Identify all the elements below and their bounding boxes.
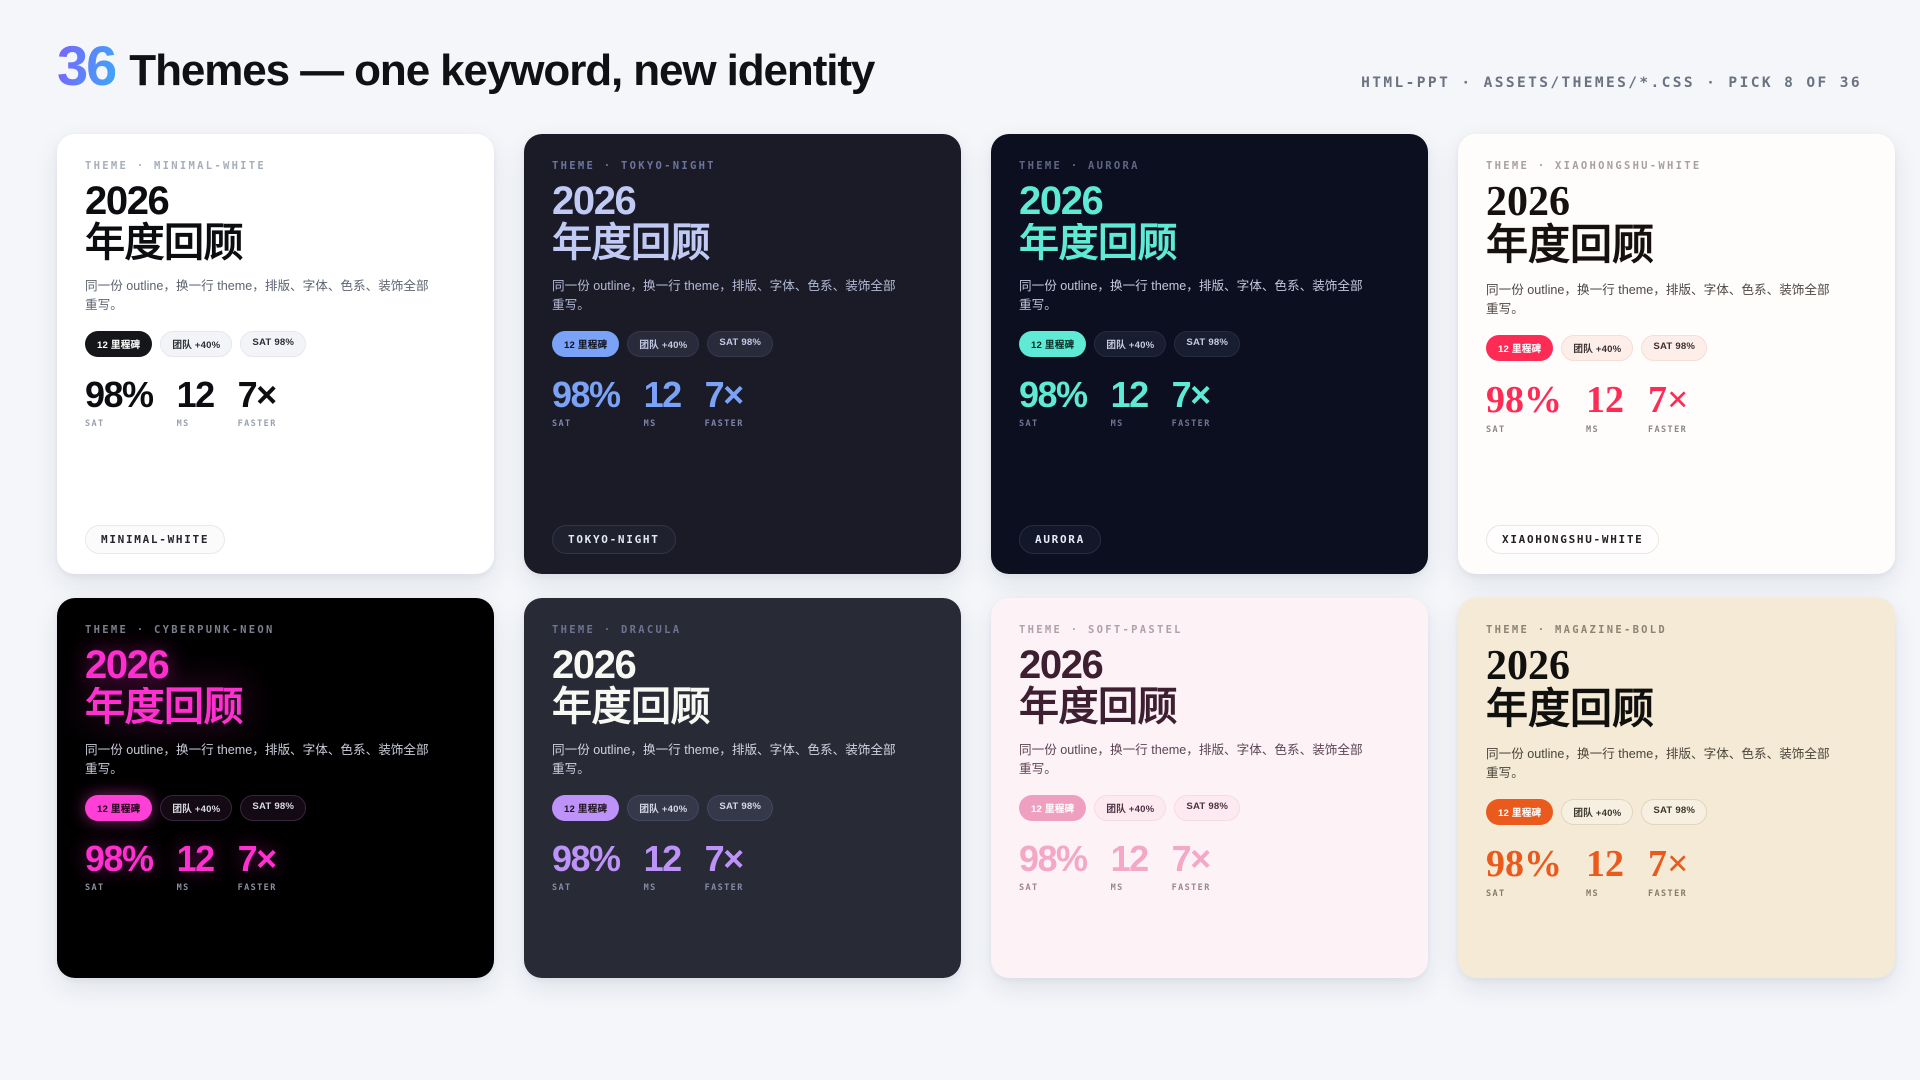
headline-cn: 年度回顾 — [85, 687, 466, 727]
card-headline: 2026 年度回顾 — [1486, 645, 1867, 731]
stat-ms: 12 MS — [177, 377, 214, 429]
card-lede: 同一份 outline，换一行 theme，排版、字体、色系、装饰全部重写。 — [552, 741, 902, 779]
stat-ms: 12 MS — [1111, 377, 1148, 429]
card-chips: 12 里程碑 团队 +40% SAT 98% — [552, 331, 933, 357]
stat-sat: 98% SAT — [85, 377, 153, 429]
chip-milestones[interactable]: 12 里程碑 — [1019, 795, 1086, 821]
card-eyebrow: THEME · SOFT-PASTEL — [1019, 624, 1400, 636]
stat-label: MS — [1111, 883, 1148, 893]
stat-ms: 12 MS — [1586, 381, 1624, 435]
card-headline: 2026 年度回顾 — [1019, 645, 1400, 727]
card-footer: XIAOHONGSHU-WHITE — [1486, 525, 1659, 554]
stat-label: SAT — [1486, 889, 1562, 899]
stat-label: MS — [177, 883, 214, 893]
stat-faster: 7× FASTER — [705, 841, 744, 893]
card-lede: 同一份 outline，换一行 theme，排版、字体、色系、装饰全部重写。 — [1019, 277, 1369, 315]
theme-slug-pill[interactable]: MINIMAL-WHITE — [85, 525, 225, 554]
stat-faster: 7× FASTER — [1648, 845, 1689, 899]
stat-label: FASTER — [1648, 425, 1689, 435]
chip-team[interactable]: 团队 +40% — [627, 795, 699, 821]
card-eyebrow: THEME · TOKYO-NIGHT — [552, 160, 933, 172]
headline-year: 2026 — [552, 181, 933, 221]
stat-sat: 98% SAT — [552, 377, 620, 429]
stat-value: 12 — [177, 377, 214, 413]
headline-cn: 年度回顾 — [1486, 689, 1867, 731]
stat-sat: 98% SAT — [1486, 845, 1562, 899]
chip-milestones[interactable]: 12 里程碑 — [1486, 799, 1553, 825]
stat-label: SAT — [552, 419, 620, 429]
headline-year: 2026 — [85, 181, 466, 221]
chip-team[interactable]: 团队 +40% — [160, 331, 232, 357]
stat-value: 12 — [1586, 381, 1624, 419]
card-eyebrow: THEME · CYBERPUNK-NEON — [85, 624, 466, 636]
chip-sat[interactable]: SAT 98% — [707, 331, 773, 357]
card-footer: AURORA — [1019, 525, 1101, 554]
stat-label: SAT — [85, 419, 153, 429]
card-chips: 12 里程碑 团队 +40% SAT 98% — [85, 331, 466, 357]
card-headline: 2026 年度回顾 — [85, 645, 466, 727]
stat-faster: 7× FASTER — [238, 841, 277, 893]
headline-year: 2026 — [552, 645, 933, 685]
card-lede: 同一份 outline，换一行 theme，排版、字体、色系、装饰全部重写。 — [1019, 741, 1369, 779]
stat-value: 7× — [1172, 377, 1211, 413]
stat-value: 12 — [177, 841, 214, 877]
theme-card-xiaohongshu-white[interactable]: THEME · XIAOHONGSHU-WHITE 2026 年度回顾 同一份 … — [1458, 134, 1895, 574]
card-stats: 98% SAT 12 MS 7× FASTER — [1486, 381, 1867, 435]
card-lede: 同一份 outline，换一行 theme，排版、字体、色系、装饰全部重写。 — [85, 277, 435, 315]
stat-sat: 98% SAT — [1019, 377, 1087, 429]
chip-sat[interactable]: SAT 98% — [707, 795, 773, 821]
stat-label: SAT — [1486, 425, 1562, 435]
stat-value: 12 — [1586, 845, 1624, 883]
card-chips: 12 里程碑 团队 +40% SAT 98% — [1019, 795, 1400, 821]
theme-gallery-page: 36 Themes — one keyword, new identity HT… — [0, 0, 1920, 1080]
stat-value: 7× — [1648, 381, 1689, 419]
headline-cn: 年度回顾 — [1019, 223, 1400, 263]
page-header: 36 Themes — one keyword, new identity HT… — [0, 0, 1920, 128]
stat-label: SAT — [1019, 883, 1087, 893]
card-headline: 2026 年度回顾 — [552, 645, 933, 727]
chip-milestones[interactable]: 12 里程碑 — [552, 795, 619, 821]
theme-card-grid: THEME · MINIMAL-WHITE 2026 年度回顾 同一份 outl… — [57, 134, 1867, 978]
theme-card-tokyo-night[interactable]: THEME · TOKYO-NIGHT 2026 年度回顾 同一份 outlin… — [524, 134, 961, 574]
card-chips: 12 里程碑 团队 +40% SAT 98% — [552, 795, 933, 821]
chip-sat[interactable]: SAT 98% — [1641, 335, 1707, 361]
page-title-text: Themes — one keyword, new identity — [129, 46, 874, 96]
stat-label: MS — [644, 883, 681, 893]
theme-card-cyberpunk-neon[interactable]: THEME · CYBERPUNK-NEON 2026 年度回顾 同一份 out… — [57, 598, 494, 978]
card-lede: 同一份 outline，换一行 theme，排版、字体、色系、装饰全部重写。 — [552, 277, 902, 315]
stat-faster: 7× FASTER — [1172, 377, 1211, 429]
card-chips: 12 里程碑 团队 +40% SAT 98% — [85, 795, 466, 821]
stat-value: 12 — [1111, 841, 1148, 877]
stat-sat: 98% SAT — [85, 841, 153, 893]
stat-label: FASTER — [705, 883, 744, 893]
card-stats: 98% SAT 12 MS 7× FASTER — [1486, 845, 1867, 899]
stat-faster: 7× FASTER — [1648, 381, 1689, 435]
card-stats: 98% SAT 12 MS 7× FASTER — [552, 841, 933, 893]
stat-value: 7× — [238, 377, 277, 413]
card-stats: 98% SAT 12 MS 7× FASTER — [85, 841, 466, 893]
stat-label: MS — [177, 419, 214, 429]
stat-label: MS — [1111, 419, 1148, 429]
card-footer: MINIMAL-WHITE — [85, 525, 225, 554]
headline-cn: 年度回顾 — [1486, 225, 1867, 267]
card-headline: 2026 年度回顾 — [1486, 181, 1867, 267]
headline-cn: 年度回顾 — [1019, 687, 1400, 727]
card-eyebrow: THEME · MAGAZINE-BOLD — [1486, 624, 1867, 636]
stat-label: FASTER — [1172, 883, 1211, 893]
chip-team[interactable]: 团队 +40% — [1094, 795, 1166, 821]
stat-value: 12 — [1111, 377, 1148, 413]
card-headline: 2026 年度回顾 — [1019, 181, 1400, 263]
card-stats: 98% SAT 12 MS 7× FASTER — [85, 377, 466, 429]
stat-label: SAT — [1019, 419, 1087, 429]
stat-faster: 7× FASTER — [705, 377, 744, 429]
card-eyebrow: THEME · XIAOHONGSHU-WHITE — [1486, 160, 1867, 172]
chip-team[interactable]: 团队 +40% — [1094, 331, 1166, 357]
theme-slug-pill[interactable]: XIAOHONGSHU-WHITE — [1486, 525, 1659, 554]
chip-sat[interactable]: SAT 98% — [240, 331, 306, 357]
chip-milestones[interactable]: 12 里程碑 — [552, 331, 619, 357]
headline-cn: 年度回顾 — [552, 223, 933, 263]
stat-value: 98% — [552, 841, 620, 877]
card-lede: 同一份 outline，换一行 theme，排版、字体、色系、装饰全部重写。 — [1486, 745, 1836, 783]
stat-label: FASTER — [1172, 419, 1211, 429]
stat-value: 98% — [85, 841, 153, 877]
theme-count: 36 — [57, 33, 115, 98]
headline-year: 2026 — [1019, 645, 1400, 685]
theme-card-minimal-white[interactable]: THEME · MINIMAL-WHITE 2026 年度回顾 同一份 outl… — [57, 134, 494, 574]
card-stats: 98% SAT 12 MS 7× FASTER — [552, 377, 933, 429]
card-lede: 同一份 outline，换一行 theme，排版、字体、色系、装饰全部重写。 — [85, 741, 435, 779]
stat-value: 7× — [705, 841, 744, 877]
headline-year: 2026 — [1486, 645, 1867, 687]
headline-cn: 年度回顾 — [552, 687, 933, 727]
stat-faster: 7× FASTER — [1172, 841, 1211, 893]
chip-milestones[interactable]: 12 里程碑 — [1486, 335, 1553, 361]
header-meta: HTML-PPT · ASSETS/THEMES/*.CSS · PICK 8 … — [1361, 75, 1862, 128]
stat-label: MS — [1586, 425, 1624, 435]
card-footer: TOKYO-NIGHT — [552, 525, 676, 554]
theme-card-aurora[interactable]: THEME · AURORA 2026 年度回顾 同一份 outline，换一行… — [991, 134, 1428, 574]
headline-year: 2026 — [85, 645, 466, 685]
card-eyebrow: THEME · MINIMAL-WHITE — [85, 160, 466, 172]
stat-label: FASTER — [1648, 889, 1689, 899]
theme-card-magazine-bold[interactable]: THEME · MAGAZINE-BOLD 2026 年度回顾 同一份 outl… — [1458, 598, 1895, 978]
stat-ms: 12 MS — [1111, 841, 1148, 893]
chip-sat[interactable]: SAT 98% — [240, 795, 306, 821]
stat-label: FASTER — [238, 883, 277, 893]
stat-value: 7× — [705, 377, 744, 413]
stat-label: FASTER — [705, 419, 744, 429]
chip-milestones[interactable]: 12 里程碑 — [85, 795, 152, 821]
card-headline: 2026 年度回顾 — [552, 181, 933, 263]
chip-team[interactable]: 团队 +40% — [160, 795, 232, 821]
stat-label: SAT — [552, 883, 620, 893]
headline-year: 2026 — [1486, 181, 1867, 223]
chip-team[interactable]: 团队 +40% — [1561, 335, 1633, 361]
stat-label: MS — [1586, 889, 1624, 899]
chip-sat[interactable]: SAT 98% — [1641, 799, 1707, 825]
stat-value: 98% — [85, 377, 153, 413]
stat-value: 7× — [1648, 845, 1689, 883]
stat-label: FASTER — [238, 419, 277, 429]
card-eyebrow: THEME · DRACULA — [552, 624, 933, 636]
stat-value: 98% — [552, 377, 620, 413]
stat-sat: 98% SAT — [552, 841, 620, 893]
stat-ms: 12 MS — [1586, 845, 1624, 899]
stat-ms: 12 MS — [177, 841, 214, 893]
stat-value: 12 — [644, 377, 681, 413]
chip-sat[interactable]: SAT 98% — [1174, 331, 1240, 357]
theme-slug-pill[interactable]: AURORA — [1019, 525, 1101, 554]
stat-value: 7× — [1172, 841, 1211, 877]
theme-slug-pill[interactable]: TOKYO-NIGHT — [552, 525, 676, 554]
stat-value: 98% — [1019, 377, 1087, 413]
card-headline: 2026 年度回顾 — [85, 181, 466, 263]
theme-card-dracula[interactable]: THEME · DRACULA 2026 年度回顾 同一份 outline，换一… — [524, 598, 961, 978]
card-chips: 12 里程碑 团队 +40% SAT 98% — [1019, 331, 1400, 357]
card-eyebrow: THEME · AURORA — [1019, 160, 1400, 172]
theme-card-soft-pastel[interactable]: THEME · SOFT-PASTEL 2026 年度回顾 同一份 outlin… — [991, 598, 1428, 978]
stat-value: 7× — [238, 841, 277, 877]
card-stats: 98% SAT 12 MS 7× FASTER — [1019, 841, 1400, 893]
stat-label: MS — [644, 419, 681, 429]
stat-value: 12 — [644, 841, 681, 877]
chip-team[interactable]: 团队 +40% — [1561, 799, 1633, 825]
chip-sat[interactable]: SAT 98% — [1174, 795, 1240, 821]
chip-team[interactable]: 团队 +40% — [627, 331, 699, 357]
stat-value: 98% — [1486, 381, 1562, 419]
stat-label: SAT — [85, 883, 153, 893]
stat-value: 98% — [1019, 841, 1087, 877]
chip-milestones[interactable]: 12 里程碑 — [85, 331, 152, 357]
stat-sat: 98% SAT — [1486, 381, 1562, 435]
headline-year: 2026 — [1019, 181, 1400, 221]
card-chips: 12 里程碑 团队 +40% SAT 98% — [1486, 799, 1867, 825]
chip-milestones[interactable]: 12 里程碑 — [1019, 331, 1086, 357]
stat-value: 98% — [1486, 845, 1562, 883]
stat-ms: 12 MS — [644, 377, 681, 429]
card-stats: 98% SAT 12 MS 7× FASTER — [1019, 377, 1400, 429]
card-lede: 同一份 outline，换一行 theme，排版、字体、色系、装饰全部重写。 — [1486, 281, 1836, 319]
page-title: 36 Themes — one keyword, new identity — [57, 33, 874, 128]
stat-faster: 7× FASTER — [238, 377, 277, 429]
headline-cn: 年度回顾 — [85, 223, 466, 263]
stat-ms: 12 MS — [644, 841, 681, 893]
card-chips: 12 里程碑 团队 +40% SAT 98% — [1486, 335, 1867, 361]
stat-sat: 98% SAT — [1019, 841, 1087, 893]
